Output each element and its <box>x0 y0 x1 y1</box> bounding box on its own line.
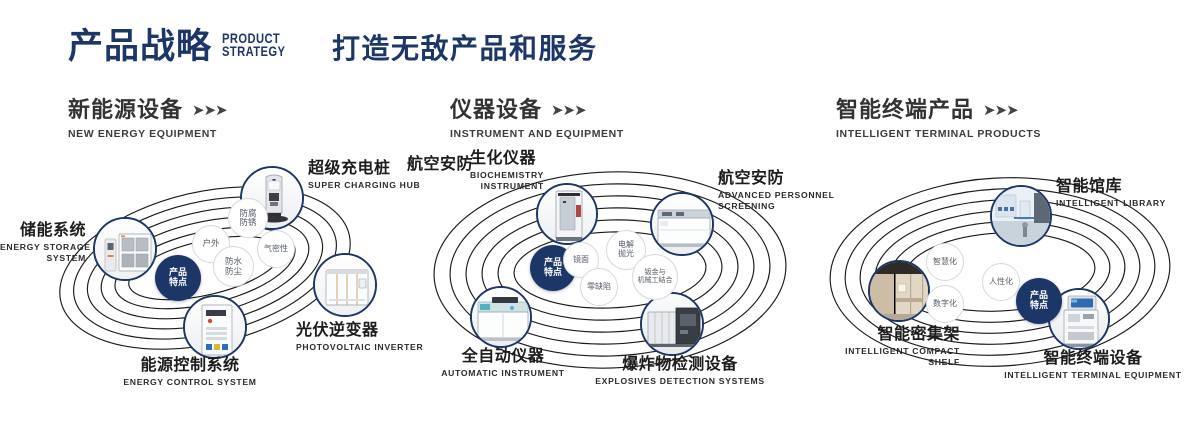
node-label-cn: 全自动仪器 <box>418 348 588 366</box>
node-explosives-detection-systems[interactable] <box>640 292 704 356</box>
feature-bubble-line2: 机械工结合 <box>638 277 673 285</box>
product-strategy-infographic: 产品战略 PRODUCT STRATEGY 打造无敌产品和服务 新能源设备➤➤➤… <box>0 0 1200 422</box>
node-label-biochemistry-instrument: 生化仪器 BIOCHEMISTRY INSTRUMENT <box>470 150 544 191</box>
node-label-en-line2: INSTRUMENT <box>470 181 544 192</box>
node-photovoltaic-inverter[interactable] <box>313 253 377 317</box>
core-bubble-product-features: 产品 特点 <box>1016 278 1062 324</box>
node-label-en-line2: SHELF <box>800 357 960 368</box>
feature-bubble-line2: 抛光 <box>618 250 634 259</box>
node-label-en-line1: BIOCHEMISTRY <box>470 170 544 181</box>
node-label-cn: 爆炸物检测设备 <box>590 356 770 374</box>
node-label-cn: 智能馆库 <box>1056 178 1166 196</box>
feature-bubble-label: 镜面 <box>573 256 589 265</box>
chevrons-icon: ➤➤➤ <box>551 103 586 118</box>
page-title-cn: 产品战略 <box>68 29 212 64</box>
node-label-en-line1: ENERGY STORAGE <box>0 242 86 253</box>
node-energy-control-system[interactable] <box>183 295 247 359</box>
product-photo-compact-shelf <box>870 262 928 320</box>
section-heading-en: INTELLIGENT TERMINAL PRODUCTS <box>836 128 1041 140</box>
core-bubble-product-features: 产品 特点 <box>155 255 201 301</box>
feature-bubble-line2: 防尘 <box>225 267 242 276</box>
node-label-cn: 智能密集架 <box>800 326 960 344</box>
node-automatic-instrument[interactable] <box>470 286 532 348</box>
feature-bubble-label: 户外 <box>202 239 219 248</box>
node-intelligent-compact-shelf[interactable] <box>868 260 930 322</box>
page-header: 产品战略 PRODUCT STRATEGY 打造无敌产品和服务 <box>0 0 1200 90</box>
node-energy-storage-system[interactable] <box>93 217 157 281</box>
node-label-cn: 能源控制系统 <box>85 357 295 375</box>
node-label-cn: 智能终端设备 <box>998 350 1188 368</box>
diagram-instrument: 航空安防 生化仪器 BIOCHEMISTRY INSTRUMENT <box>400 150 820 400</box>
product-photo-energy-storage <box>95 219 155 279</box>
core-bubble-line2: 特点 <box>544 268 562 278</box>
node-label-en: INTELLIGENT COMPACT SHELF <box>800 346 960 367</box>
diagram-new-energy: 储能系统 ENERGY STORAGE SYSTEM 超级 <box>0 150 420 400</box>
node-label-en: AUTOMATIC INSTRUMENT <box>418 368 588 379</box>
node-label-energy-storage-system: 储能系统 ENERGY STORAGE SYSTEM <box>0 222 86 263</box>
feature-bubble-line2: 防锈 <box>239 218 256 227</box>
feature-bubble-anticorrosion: 防腐 防锈 <box>228 198 268 238</box>
node-intelligent-library[interactable] <box>990 185 1052 247</box>
product-photo-automatic-instrument <box>472 288 530 346</box>
node-label-en: INTELLIGENT TERMINAL EQUIPMENT <box>998 370 1188 381</box>
product-photo-screening <box>652 194 712 254</box>
feature-bubble-zero-defect: 零缺陷 <box>580 268 618 306</box>
diagram-intelligent-terminal: 智能馆库 INTELLIGENT LIBRARY 智能密集架 <box>800 150 1200 400</box>
core-bubble-line2: 特点 <box>169 278 187 288</box>
section-heading-cn-text: 新能源设备 <box>68 97 183 122</box>
node-label-explosives-detection-systems: 爆炸物检测设备 EXPLOSIVES DETECTION SYSTEMS <box>590 356 770 387</box>
section-heading-cn-text: 智能终端产品 <box>836 97 974 122</box>
section-heading-instrument: 仪器设备➤➤➤ INSTRUMENT AND EQUIPMENT <box>450 99 624 140</box>
product-photo-explosives-detection <box>642 294 702 354</box>
node-label-cn: 生化仪器 <box>470 150 544 168</box>
node-label-en: ENERGY CONTROL SYSTEM <box>85 377 295 388</box>
feature-bubble-smartization: 智慧化 <box>926 243 964 281</box>
section-heading-cn: 智能终端产品➤➤➤ <box>836 99 1041 121</box>
feature-bubble-label: 人性化 <box>989 278 1013 287</box>
section-heading-intelligent-terminal: 智能终端产品➤➤➤ INTELLIGENT TERMINAL PRODUCTS <box>836 99 1041 140</box>
feature-bubble-sheetmetal-machining: 钣金与 机械工结合 <box>632 254 678 300</box>
section-heading-cn-text: 仪器设备 <box>450 97 542 122</box>
page-subtitle: 打造无敌产品和服务 <box>332 35 598 63</box>
node-advanced-personnel-screening[interactable] <box>650 192 714 256</box>
feature-bubble-label: 数字化 <box>933 300 957 309</box>
node-label-intelligent-compact-shelf: 智能密集架 INTELLIGENT COMPACT SHELF <box>800 326 960 367</box>
node-label-aviation-security-left: 航空安防 <box>407 156 473 174</box>
section-heading-cn: 新能源设备➤➤➤ <box>68 99 227 121</box>
node-label-en-line2: SYSTEM <box>0 253 86 264</box>
node-label-en: INTELLIGENT LIBRARY <box>1056 198 1166 209</box>
section-heading-cn: 仪器设备➤➤➤ <box>450 99 624 121</box>
section-heading-en: NEW ENERGY EQUIPMENT <box>68 128 227 140</box>
node-label-intelligent-terminal-equipment: 智能终端设备 INTELLIGENT TERMINAL EQUIPMENT <box>998 350 1188 381</box>
core-bubble-line2: 特点 <box>1030 301 1048 311</box>
node-label-en: EXPLOSIVES DETECTION SYSTEMS <box>590 376 770 387</box>
page-title-en-line2: STRATEGY <box>222 45 278 58</box>
feature-bubble-label: 气密性 <box>264 245 288 254</box>
feature-bubble-digitalization: 数字化 <box>926 285 964 323</box>
feature-bubble-humanization: 人性化 <box>982 263 1020 301</box>
chevrons-icon: ➤➤➤ <box>192 103 227 118</box>
node-label-en-line1: INTELLIGENT COMPACT <box>800 346 960 357</box>
product-photo-intelligent-library <box>992 187 1050 245</box>
node-label-cn: 储能系统 <box>0 222 86 240</box>
feature-bubble-line1: 钣金与 <box>638 269 673 277</box>
feature-bubble-label: 零缺陷 <box>587 283 611 292</box>
node-label-cn: 航空安防 <box>407 156 473 174</box>
chevrons-icon: ➤➤➤ <box>983 103 1018 118</box>
feature-bubble-airtightness: 气密性 <box>257 230 295 268</box>
page-title-en: PRODUCT STRATEGY <box>222 32 278 59</box>
product-photo-pv-inverter <box>315 255 375 315</box>
product-photo-biochemistry <box>538 185 596 243</box>
feature-bubble-label: 智慧化 <box>933 258 957 267</box>
product-photo-energy-control <box>185 297 245 357</box>
section-heading-en: INSTRUMENT AND EQUIPMENT <box>450 128 624 140</box>
node-biochemistry-instrument[interactable] <box>536 183 598 245</box>
feature-bubble-waterproof-dustproof: 防水 防尘 <box>213 246 254 287</box>
node-label-automatic-instrument: 全自动仪器 AUTOMATIC INSTRUMENT <box>418 348 588 379</box>
node-label-en: BIOCHEMISTRY INSTRUMENT <box>470 170 544 191</box>
node-label-energy-control-system: 能源控制系统 ENERGY CONTROL SYSTEM <box>85 357 295 388</box>
node-label-intelligent-library: 智能馆库 INTELLIGENT LIBRARY <box>1056 178 1166 209</box>
node-label-en: ENERGY STORAGE SYSTEM <box>0 242 86 263</box>
section-heading-new-energy: 新能源设备➤➤➤ NEW ENERGY EQUIPMENT <box>68 99 227 140</box>
